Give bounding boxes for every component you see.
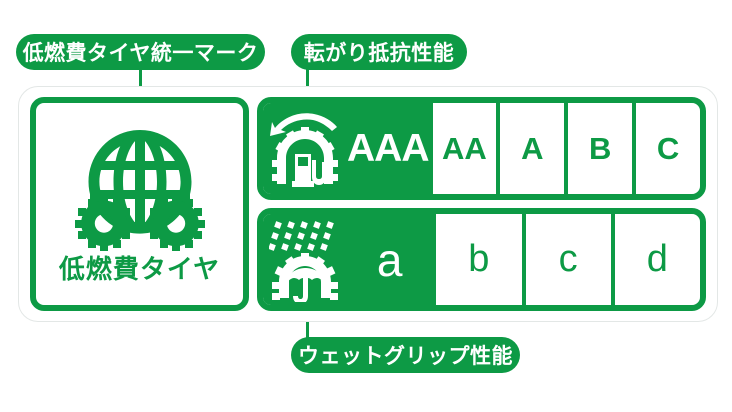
grade-label: C <box>657 131 679 167</box>
rolling-resistance-row: AAA AA A B C <box>257 97 706 200</box>
callout-wet-grip-label: ウェットグリップ性能 <box>298 340 513 370</box>
grade-cell-rolling-2[interactable]: A <box>500 103 564 194</box>
callout-wet-grip: ウェットグリップ性能 <box>291 337 520 373</box>
grade-cell-wet-1[interactable]: b <box>436 214 521 305</box>
grade-label: d <box>647 238 668 281</box>
rolling-resistance-cells: AAA AA A B C <box>347 103 700 194</box>
grade-label: b <box>468 238 489 281</box>
grade-rows: AAA AA A B C <box>257 97 706 311</box>
grade-label: c <box>559 238 578 281</box>
grade-cell-wet-2[interactable]: c <box>526 214 611 305</box>
grade-label: AA <box>442 131 487 167</box>
callout-rolling-resistance-label: 転がり抵抗性能 <box>304 37 455 67</box>
grade-cell-rolling-0[interactable]: AAA <box>347 103 429 194</box>
tire-fuel-pump-icon <box>269 108 341 190</box>
grade-cell-rolling-3[interactable]: B <box>568 103 632 194</box>
callout-low-fuel-mark: 低燃費タイヤ統一マーク <box>16 34 265 70</box>
grade-cell-wet-0[interactable]: a <box>347 214 432 305</box>
grade-label: A <box>521 131 543 167</box>
grade-label: B <box>589 131 611 167</box>
wet-grip-row: a b c d <box>257 208 706 311</box>
tire-label: 低燃費タイヤ <box>30 97 706 311</box>
grade-label: AAA <box>347 127 429 171</box>
low-fuel-mark-panel: 低燃費タイヤ <box>30 97 249 311</box>
rain-tire-umbrella-icon <box>269 218 341 302</box>
wet-grip-cells: a b c d <box>347 214 700 305</box>
callout-rolling-resistance: 転がり抵抗性能 <box>291 34 467 70</box>
tire-fuel-pump-icon-cell <box>263 103 347 194</box>
grade-cell-wet-3[interactable]: d <box>615 214 700 305</box>
grade-cell-rolling-4[interactable]: C <box>636 103 700 194</box>
low-fuel-mark-caption: 低燃費タイヤ <box>59 256 220 282</box>
grade-cell-rolling-1[interactable]: AA <box>433 103 497 194</box>
globe-with-tires-icon <box>67 126 213 254</box>
rain-tire-umbrella-icon-cell <box>263 214 347 305</box>
grade-label: a <box>377 233 403 287</box>
callout-low-fuel-mark-label: 低燃費タイヤ統一マーク <box>23 37 259 67</box>
